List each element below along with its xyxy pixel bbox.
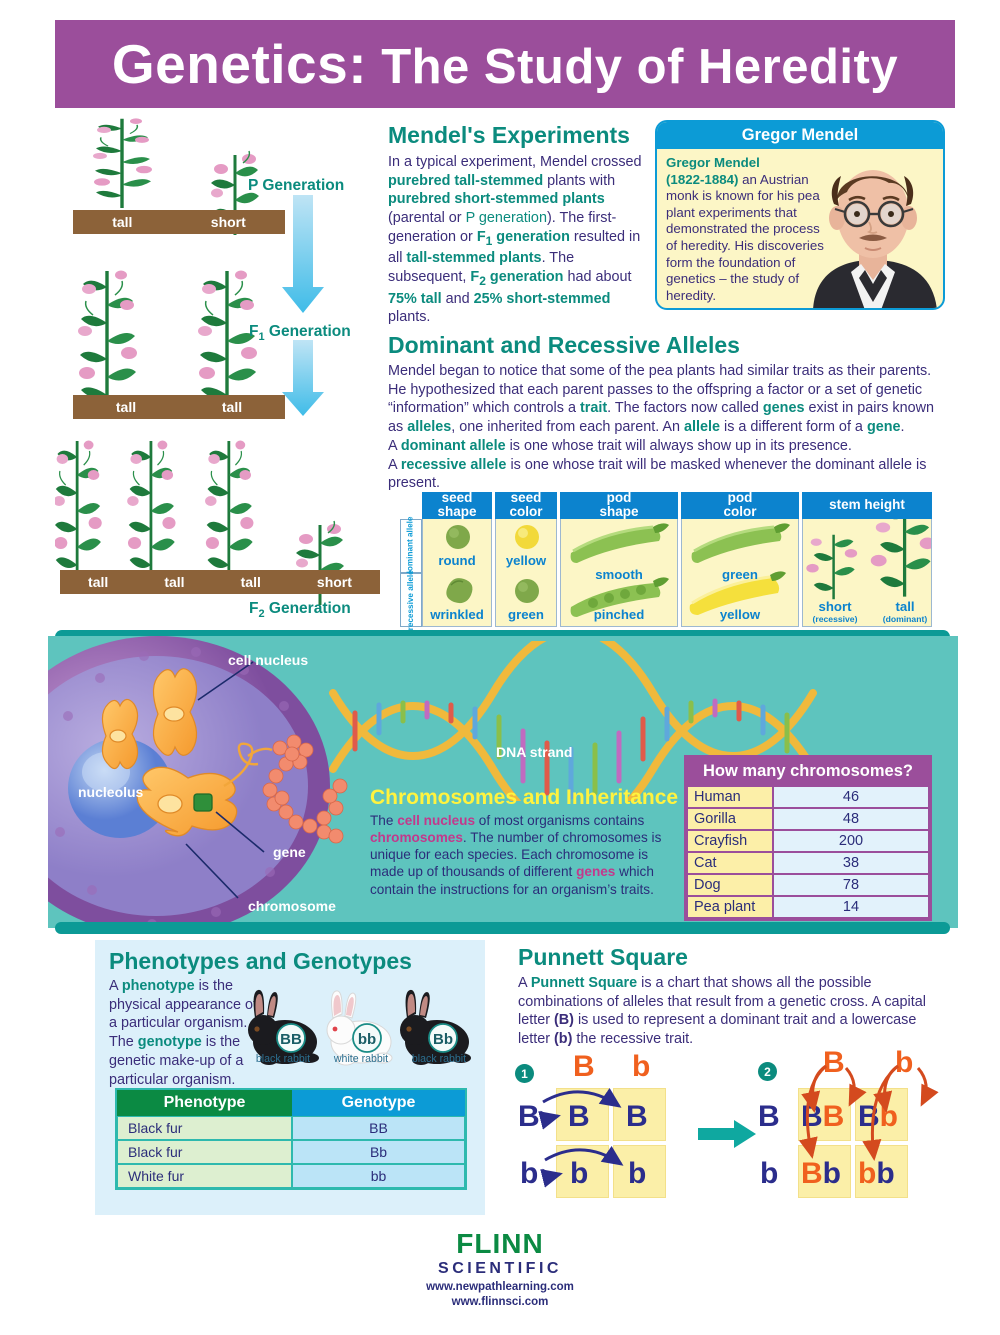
trait-header-pod-shape: pod shape (560, 492, 678, 519)
chromosome-count-table: How many chromosomes? Human 46 Gorilla 4… (684, 755, 932, 921)
species-count: 38 (773, 852, 929, 874)
trait-cell-pod-shape: smooth pinched (560, 519, 678, 627)
chromosomes-inheritance-heading: Chromosomes and Inheritance (370, 786, 678, 810)
cell-genotype: Bb (292, 1140, 465, 1164)
soil-bar-f1-generation: tall tall (73, 395, 285, 419)
trait-label-round: round (423, 553, 491, 568)
label-f2-generation: F2 Generation (249, 600, 351, 620)
column-header-phenotype: Phenotype (117, 1090, 292, 1116)
trait-label-tall: tall (dominant) (845, 599, 932, 624)
dominant-recessive-paragraph: Mendel began to notice that some of the … (388, 362, 948, 493)
plant-label-tall: tall (88, 574, 108, 590)
row-label-dominant-allele: dominant allele (400, 519, 422, 573)
species-name: Crayfish (687, 830, 773, 852)
trait-header-pod-color: pod color (681, 492, 799, 519)
cell-genotype: BB (292, 1116, 465, 1140)
chromosome-count-title: How many chromosomes? (687, 758, 929, 786)
arrow-p-to-f1-icon (280, 195, 326, 317)
species-count: 200 (773, 830, 929, 852)
stem-height-artwork (803, 519, 932, 603)
gregor-mendel-card-header: Gregor Mendel (657, 122, 943, 149)
label-cell-nucleus: cell nucleus (228, 652, 308, 668)
species-name: Dog (687, 874, 773, 896)
gregor-mendel-card-title: Gregor Mendel (742, 126, 858, 145)
species-count: 48 (773, 808, 929, 830)
species-name: Gorilla (687, 808, 773, 830)
svg-text:bb: bb (358, 1031, 376, 1048)
punnett-diagrams: 1 B b B b B B b b 2 B b B b BB Bb (510, 1050, 960, 1215)
punnett-heading: Punnett Square (518, 944, 948, 971)
mendels-experiments-paragraph: In a typical experiment, Mendel crossed … (388, 153, 650, 327)
step1-arrows-icon (510, 1050, 710, 1215)
flinn-logo-text: FLINN (0, 1228, 1000, 1260)
trait-label-green: green (496, 607, 556, 622)
plant-label-tall: tall (164, 574, 184, 590)
species-count: 78 (773, 874, 929, 896)
trait-header-seed-color: seed color (495, 492, 557, 519)
trait-label-pinched: pinched (561, 607, 677, 622)
plant-label-tall: tall (222, 399, 242, 415)
gregor-mendel-card: Gregor Mendel Gregor Mendel (1822-1884) … (655, 120, 945, 310)
title-banner: Genetics: The Study of Heredity (55, 20, 955, 108)
table-row: Gorilla 48 (687, 808, 929, 830)
trait-header-seed-shape: seed shape (422, 492, 492, 519)
soil-bar-p-generation: tall short (73, 210, 285, 234)
plant-label-tall: tall (112, 214, 132, 230)
arrow-f1-to-f2-icon (280, 340, 326, 420)
table-header-row: Phenotype Genotype (117, 1090, 465, 1116)
step2-arrows-icon (750, 1050, 960, 1215)
chromosomes-inheritance-paragraph: The cell nucleus of most organisms conta… (370, 812, 680, 898)
trait-cell-seed-shape: round wrinkled (422, 519, 492, 627)
label-gene: gene (273, 844, 306, 860)
page-title-lead: Genetics: (112, 33, 367, 95)
table-row: Black fur Bb (117, 1140, 465, 1164)
punnett-square-section: Punnett Square A Punnett Square is a cha… (518, 944, 948, 1049)
plant-label-short: short (317, 574, 352, 590)
trait-column-pod-shape: pod shape smooth pinched (560, 492, 678, 627)
trait-comparison-table: dominant allele recessive allele seed sh… (400, 492, 932, 627)
trait-label-smooth: smooth (561, 567, 677, 582)
table-row: White fur bb (117, 1164, 465, 1188)
trait-column-pod-color: pod color green yellow (681, 492, 799, 627)
plant-label-tall: tall (116, 399, 136, 415)
phenotypes-paragraph: A phenotype is the physical appearance o… (109, 977, 259, 1089)
rabbit-caption: black rabbit (245, 1053, 321, 1065)
flinn-logo-subtext: SCIENTIFIC (0, 1260, 1000, 1278)
dominant-recessive-heading: Dominant and Recessive Alleles (388, 332, 948, 359)
rabbit-captions: black rabbit white rabbit black rabbit (245, 1053, 477, 1065)
svg-text:BB: BB (280, 1031, 302, 1048)
cell-genotype: bb (292, 1164, 465, 1188)
table-row: Human 46 (687, 786, 929, 808)
gregor-mendel-biography: Gregor Mendel (1822-1884) an Austrian mo… (666, 155, 826, 304)
phenotypes-heading: Phenotypes and Genotypes (109, 948, 412, 975)
species-name: Pea plant (687, 896, 773, 918)
band-bottom-cap (55, 922, 950, 934)
species-count: 14 (773, 896, 929, 918)
footer: FLINN SCIENTIFIC www.newpathlearning.com… (0, 1228, 1000, 1308)
label-dna-strand: DNA strand (496, 744, 573, 760)
svg-text:Bb: Bb (433, 1031, 453, 1048)
trait-header-stem-height: stem height (802, 492, 932, 519)
trait-label-wrinkled: wrinkled (423, 607, 491, 622)
plant-label-tall: tall (241, 574, 261, 590)
page-title-rest: The Study of Heredity (381, 40, 898, 94)
cell-phenotype: Black fur (117, 1116, 292, 1140)
phenotypes-genotypes-panel: Phenotypes and Genotypes A phenotype is … (95, 940, 485, 1215)
row-label-recessive-allele: recessive allele (400, 573, 422, 627)
species-name: Human (687, 786, 773, 808)
footer-url-flinnsci[interactable]: www.flinnsci.com (0, 1296, 1000, 1308)
table-row: Dog 78 (687, 874, 929, 896)
mendels-experiments-section: Mendel's Experiments In a typical experi… (388, 122, 650, 327)
gregor-mendel-card-body: Gregor Mendel (1822-1884) an Austrian mo… (657, 149, 943, 310)
trait-label-green: green (682, 567, 798, 582)
phenotype-genotype-table: Phenotype Genotype Black fur BB Black fu… (115, 1088, 467, 1190)
table-row: Black fur BB (117, 1116, 465, 1140)
trait-cell-stem-height: short (recessive) tall (dominant) (802, 519, 932, 627)
trait-column-seed-color: seed color yellow green (495, 492, 557, 627)
soil-bar-f2-generation: tall tall tall short (60, 570, 380, 594)
gregor-mendel-portrait (803, 152, 943, 310)
plant-label-short: short (211, 214, 246, 230)
punnett-paragraph: A Punnett Square is a chart that shows a… (518, 974, 948, 1049)
label-p-generation: P Generation (248, 177, 344, 195)
trait-cell-pod-color: green yellow (681, 519, 799, 627)
footer-url-newpath[interactable]: www.newpathlearning.com (0, 1281, 1000, 1293)
column-header-genotype: Genotype (292, 1090, 465, 1116)
trait-label-yellow: yellow (682, 607, 798, 622)
mendels-experiments-heading: Mendel's Experiments (388, 122, 650, 149)
species-name: Cat (687, 852, 773, 874)
cell-phenotype: Black fur (117, 1140, 292, 1164)
rabbit-caption: black rabbit (401, 1053, 477, 1065)
label-chromosome: chromosome (248, 898, 336, 914)
rabbit-caption: white rabbit (323, 1053, 399, 1065)
species-count: 46 (773, 786, 929, 808)
dominant-recessive-section: Dominant and Recessive Alleles Mendel be… (388, 332, 948, 493)
label-nucleolus: nucleolus (78, 784, 143, 800)
trait-table-row-labels: dominant allele recessive allele (400, 519, 422, 627)
trait-column-seed-shape: seed shape round wrinkled (422, 492, 492, 627)
table-row: Pea plant 14 (687, 896, 929, 918)
trait-column-stem-height: stem height (802, 492, 932, 627)
trait-table-columns: seed shape round wrinkled seed color (422, 492, 932, 627)
table-row: Crayfish 200 (687, 830, 929, 852)
trait-cell-seed-color: yellow green (495, 519, 557, 627)
cell-phenotype: White fur (117, 1164, 292, 1188)
trait-label-yellow: yellow (496, 553, 556, 568)
table-row: Cat 38 (687, 852, 929, 874)
page-title: Genetics: The Study of Heredity (112, 32, 898, 96)
